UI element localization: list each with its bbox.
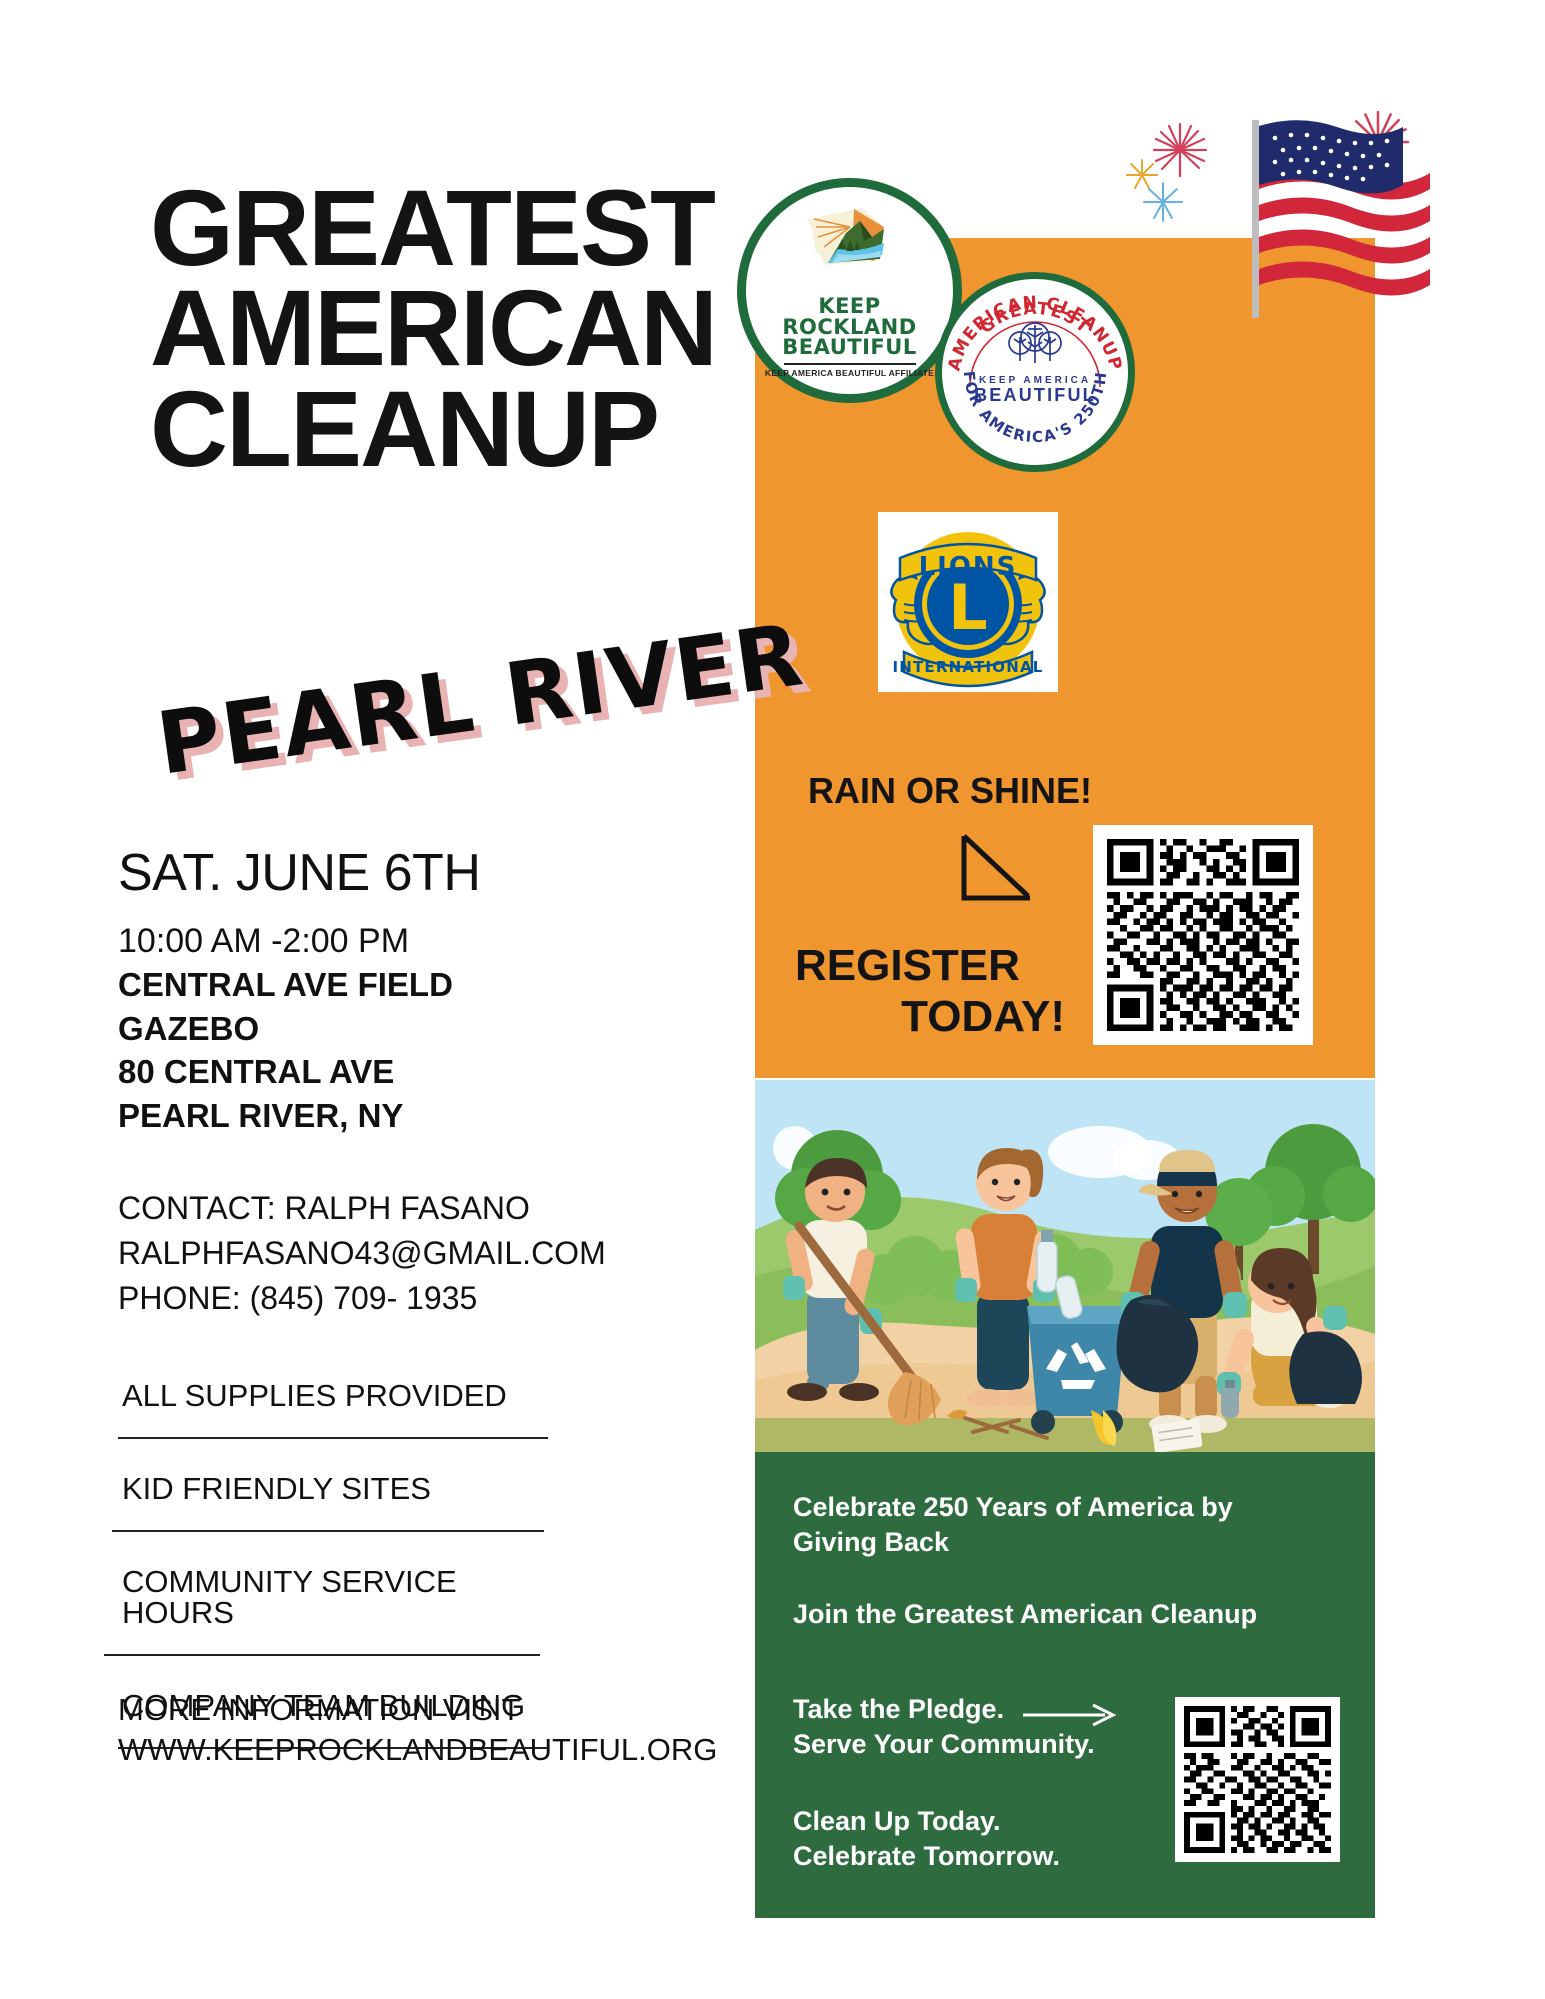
qr-code-register-icon[interactable] xyxy=(1093,825,1313,1045)
krb-affiliate-text: KEEP AMERICA BEAUTIFUL AFFILIATE xyxy=(765,368,934,378)
more-information: MORE INFORMATION VISIT WWW.KEEPROCKLANDB… xyxy=(118,1690,638,1771)
list-item: KID FRIENDLY SITES xyxy=(100,1473,560,1504)
register-today-text: REGISTER TODAY! xyxy=(795,940,1065,1042)
divider xyxy=(118,1437,548,1439)
volunteers-cleaning-park-illustration xyxy=(755,1080,1375,1452)
gac-kab-text: KEEP AMERICA BEAUTIFUL xyxy=(942,375,1128,406)
lions-bottom-text: INTERNATIONAL xyxy=(892,658,1043,676)
poster-canvas: GREATEST AMERICAN CLEANUP xyxy=(0,0,1545,1999)
event-city-state: PEARL RIVER, NY xyxy=(118,1094,588,1138)
contact-phone[interactable]: PHONE: (845) 709- 1935 xyxy=(118,1276,588,1321)
arrow-right-icon xyxy=(1021,1704,1117,1726)
register-line-1: REGISTER xyxy=(795,941,1020,990)
krb-divider xyxy=(784,363,916,365)
qr-code-pledge-icon[interactable] xyxy=(1175,1697,1340,1862)
krb-line-1: KEEP xyxy=(818,296,880,317)
event-date: SAT. JUNE 6TH xyxy=(118,845,588,901)
join-text: Join the Greatest American Cleanup xyxy=(793,1599,1313,1630)
event-venue: CENTRAL AVE FIELD GAZEBO xyxy=(118,963,588,1050)
kab-big-text: BEAUTIFUL xyxy=(942,386,1128,406)
list-item: ALL SUPPLIES PROVIDED xyxy=(100,1380,560,1411)
website-url[interactable]: WWW.KEEPROCKLANDBEAUTIFUL.ORG xyxy=(118,1730,638,1770)
rain-or-shine-text: RAIN OR SHINE! xyxy=(808,770,1092,812)
krb-line-2: ROCKLAND xyxy=(782,317,916,338)
lions-top-text: LIONS xyxy=(919,552,1018,582)
location-stamp: PEARL RIVER PEARL RIVER xyxy=(151,605,810,795)
headline-line-1: Celebrate 250 Years of America by xyxy=(793,1490,1313,1525)
event-street: 80 CENTRAL AVE xyxy=(118,1050,588,1094)
headline-line-2: Giving Back xyxy=(793,1525,1313,1560)
keep-rockland-beautiful-badge: KEEP ROCKLAND BEAUTIFUL KEEP AMERICA BEA… xyxy=(737,178,962,403)
register-line-2: TODAY! xyxy=(795,991,1065,1042)
more-info-line-1: MORE INFORMATION VISIT xyxy=(118,1690,638,1730)
location-stamp-text: PEARL RIVER xyxy=(151,605,810,795)
greatest-american-cleanup-badge: GREATEST AMERICAN CLEANUP FOR AMERICA'S … xyxy=(935,272,1135,472)
event-time: 10:00 AM -2:00 PM xyxy=(118,919,588,963)
contact-email[interactable]: RALPHFASANO43@GMAIL.COM xyxy=(118,1231,588,1276)
event-details: SAT. JUNE 6TH 10:00 AM -2:00 PM CENTRAL … xyxy=(118,845,588,1322)
divider xyxy=(104,1654,540,1656)
american-flag-icon xyxy=(1090,78,1430,318)
krb-line-3: BEAUTIFUL xyxy=(782,337,916,358)
lions-international-logo-icon: L LIONS INTERNATIONAL xyxy=(878,512,1058,692)
keep-rockland-beautiful-logo-icon xyxy=(802,205,898,271)
title-line-3: CLEANUP xyxy=(150,379,910,479)
contact-name: CONTACT: RALPH FASANO xyxy=(118,1186,588,1231)
arrow-down-right-icon xyxy=(958,832,1046,920)
list-item: COMMUNITY SERVICE HOURS xyxy=(100,1566,560,1628)
divider xyxy=(112,1530,544,1532)
